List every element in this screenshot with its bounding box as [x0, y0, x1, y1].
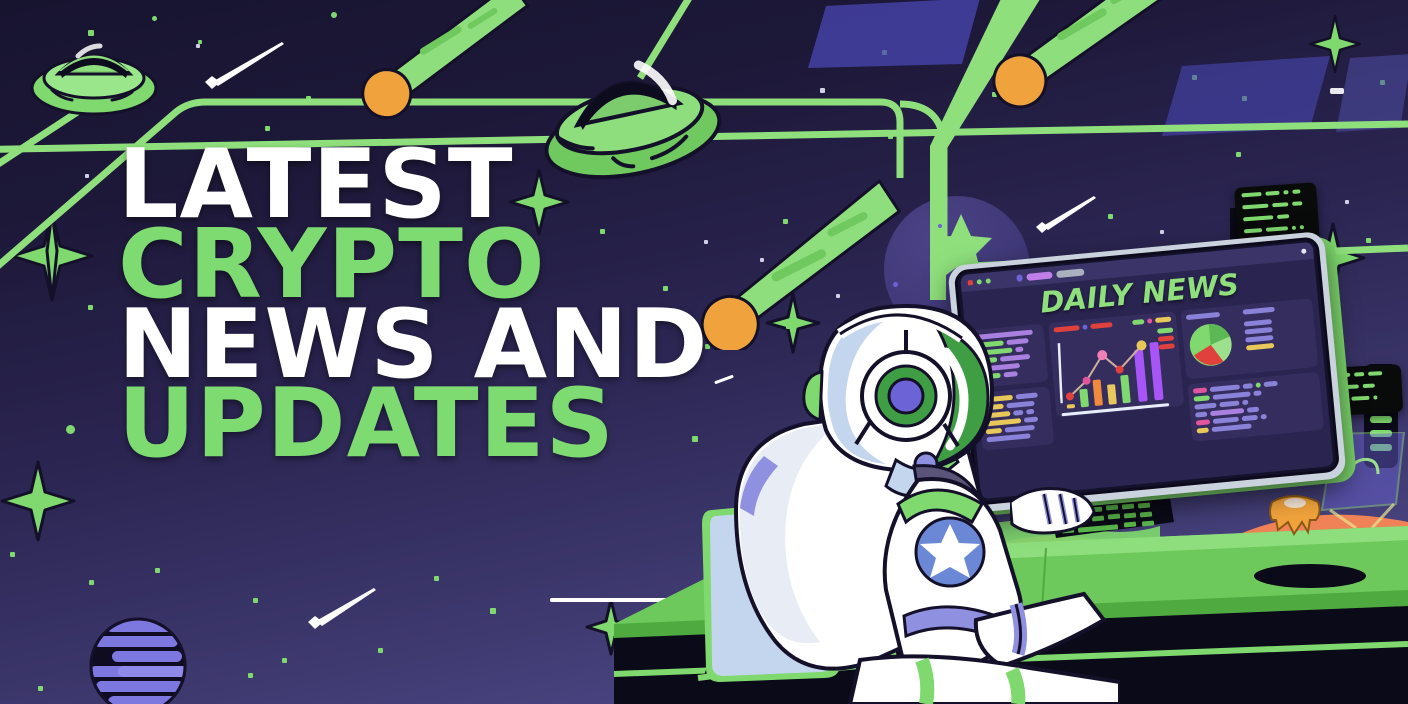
browser-tab-3[interactable] — [1056, 268, 1085, 278]
star-dot — [85, 174, 89, 178]
star-dot — [882, 50, 887, 55]
browser-tab-2[interactable] — [1026, 271, 1053, 280]
star-dot — [306, 96, 311, 101]
star-dot — [434, 576, 439, 581]
star-dot — [282, 658, 287, 663]
astronaut-glove — [1010, 480, 1100, 540]
panel-right-bottom — [1187, 372, 1324, 442]
star-dot — [1108, 214, 1113, 219]
star-dot — [1236, 152, 1241, 157]
star-dot — [89, 580, 94, 585]
star-dot — [253, 598, 258, 603]
comet-icon — [960, 0, 1200, 130]
striped-planet — [88, 616, 188, 704]
star-dot — [1380, 80, 1385, 85]
star-dot — [88, 305, 93, 310]
shooting-star-icon — [1030, 196, 1100, 240]
crypto-news-banner: LATEST CRYPTO NEWS AND UPDATES — [0, 0, 1408, 704]
star-dot — [930, 172, 935, 177]
star-dot — [378, 648, 383, 653]
comet-icon — [330, 0, 550, 128]
panel-right-top — [1180, 298, 1318, 379]
star-dot — [1242, 96, 1247, 101]
star-dot — [938, 224, 942, 228]
star-dot — [38, 686, 43, 691]
star-dot — [30, 138, 35, 143]
star-dot — [152, 16, 157, 21]
data-bar — [1186, 312, 1220, 320]
orange-cup — [1262, 490, 1328, 542]
window-max-dot[interactable] — [986, 278, 991, 283]
star-dot — [1366, 238, 1371, 243]
legend-chip — [1147, 318, 1152, 323]
ufo-small — [26, 26, 162, 126]
pie-chart — [1187, 321, 1235, 369]
window-min-dot[interactable] — [977, 279, 982, 284]
shooting-star-icon — [196, 42, 288, 98]
chart-legend — [1157, 327, 1175, 352]
star-dot — [1160, 230, 1164, 234]
star-dot — [248, 673, 253, 678]
star-dot — [490, 608, 496, 614]
data-bar — [1244, 319, 1272, 327]
window-close-dot[interactable] — [968, 280, 973, 285]
browser-menu-dot[interactable] — [1301, 248, 1306, 253]
legend-chip — [1132, 319, 1144, 325]
star-dot — [10, 552, 15, 557]
browser-tab-1[interactable] — [1016, 274, 1023, 282]
star-dot — [888, 134, 893, 139]
data-bar — [1245, 335, 1273, 343]
data-bar — [1246, 343, 1274, 351]
star-dot — [155, 568, 160, 573]
page-title: LATEST CRYPTO NEWS AND UPDATES — [118, 146, 709, 465]
star-dot — [820, 88, 825, 93]
shooting-star-icon — [300, 588, 380, 636]
data-bar — [1243, 307, 1275, 315]
star-dot — [66, 425, 75, 434]
legend-chip — [1155, 317, 1171, 323]
data-bar — [1244, 327, 1272, 335]
star-dot — [1345, 200, 1349, 204]
